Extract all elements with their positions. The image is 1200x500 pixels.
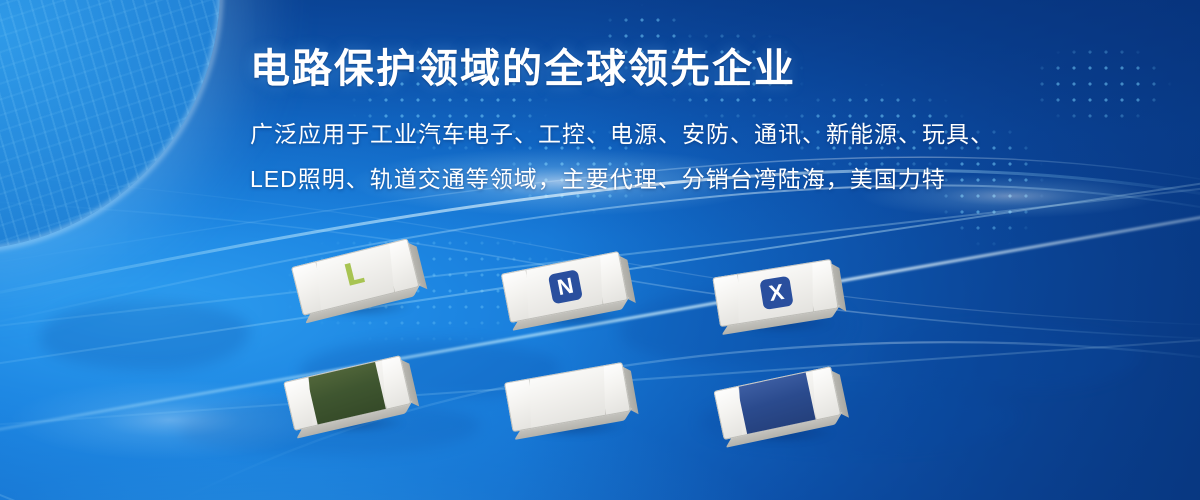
product-fuse-green	[288, 368, 408, 424]
product-fuse-x: X	[716, 268, 836, 324]
product-group: L N X	[0, 0, 1200, 500]
fuse-marking-badge-n: N	[548, 269, 583, 304]
product-fuse-n: N	[505, 262, 625, 318]
product-fuse-blue	[718, 378, 838, 434]
hero-banner: 电路保护领域的全球领先企业 广泛应用于工业汽车电子、工控、电源、安防、通讯、新能…	[0, 0, 1200, 500]
product-fuse-plain	[508, 372, 628, 428]
product-fuse-l: L	[296, 252, 416, 308]
fuse-marking-badge-x: X	[759, 276, 793, 310]
